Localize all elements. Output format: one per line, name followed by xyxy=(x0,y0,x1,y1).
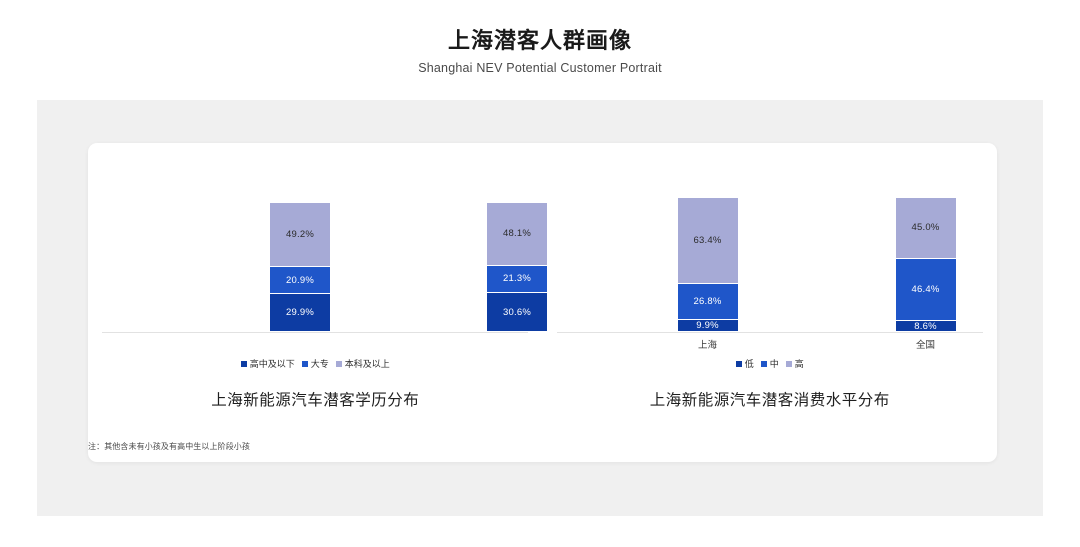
bar-segment-high: 63.4% xyxy=(677,197,739,283)
page-title: 上海潜客人群画像 xyxy=(0,27,1080,55)
legend-swatch-icon xyxy=(336,361,342,367)
legend-left: 高中及以下 大专 本科及以上 xyxy=(88,357,543,370)
legend-item[interactable]: 本科及以上 xyxy=(336,357,390,370)
stacked-bar[interactable]: 63.4% 26.8% 9.9% xyxy=(677,197,739,332)
legend-right: 低 中 高 xyxy=(543,357,998,370)
legend-swatch-icon xyxy=(736,361,742,367)
legend-item[interactable]: 低 xyxy=(736,357,754,370)
x-axis-category-label: 全国 xyxy=(895,337,957,351)
legend-label: 低 xyxy=(745,357,754,370)
charts-row: 49.2% 20.9% 29.9% 48.1% 21.3% 30.6% 高中及以… xyxy=(88,143,997,462)
stacked-bar[interactable]: 49.2% 20.9% 29.9% xyxy=(269,202,331,332)
legend-label: 本科及以上 xyxy=(345,357,390,370)
legend-label: 大专 xyxy=(311,357,329,370)
legend-item[interactable]: 中 xyxy=(761,357,779,370)
chart-consumption-distribution: 63.4% 26.8% 9.9% 45.0% 46.4% 8.6% 上海 全国 xyxy=(543,143,998,462)
chart-education-distribution: 49.2% 20.9% 29.9% 48.1% 21.3% 30.6% 高中及以… xyxy=(88,143,543,462)
x-axis-line-right xyxy=(557,332,983,333)
bar-segment-low: 29.9% xyxy=(269,293,331,332)
bar-segment-mid: 46.4% xyxy=(895,258,957,321)
bar-segment-mid: 26.8% xyxy=(677,283,739,319)
legend-swatch-icon xyxy=(302,361,308,367)
footnote: 注：其他含未有小孩及有高中生以上阶段小孩 xyxy=(88,441,250,452)
slide-page: 上海潜客人群画像 Shanghai NEV Potential Customer… xyxy=(0,0,1080,547)
legend-item[interactable]: 高 xyxy=(786,357,804,370)
chart-caption: 上海新能源汽车潜客消费水平分布 xyxy=(543,388,998,410)
legend-label: 中 xyxy=(770,357,779,370)
x-axis-category-label: 上海 xyxy=(677,337,739,351)
plot-area-left: 49.2% 20.9% 29.9% 48.1% 21.3% 30.6% xyxy=(102,190,528,332)
stacked-bar[interactable]: 45.0% 46.4% 8.6% xyxy=(895,197,957,332)
legend-label: 高中及以下 xyxy=(250,357,295,370)
legend-swatch-icon xyxy=(241,361,247,367)
slide-header: 上海潜客人群画像 Shanghai NEV Potential Customer… xyxy=(0,0,1080,75)
bar-segment-high: 49.2% xyxy=(269,202,331,266)
bar-segment-mid: 20.9% xyxy=(269,266,331,293)
bar-segment-low: 8.6% xyxy=(895,320,957,332)
legend-swatch-icon xyxy=(786,361,792,367)
legend-label: 高 xyxy=(795,357,804,370)
bar-segment-low: 30.6% xyxy=(486,292,548,332)
chart-card: 49.2% 20.9% 29.9% 48.1% 21.3% 30.6% 高中及以… xyxy=(88,143,997,462)
legend-item[interactable]: 高中及以下 xyxy=(241,357,295,370)
legend-item[interactable]: 大专 xyxy=(302,357,329,370)
bar-segment-high: 48.1% xyxy=(486,202,548,265)
stacked-bar[interactable]: 48.1% 21.3% 30.6% xyxy=(486,202,548,332)
page-subtitle: Shanghai NEV Potential Customer Portrait xyxy=(0,61,1080,75)
chart-caption: 上海新能源汽车潜客学历分布 xyxy=(88,388,543,410)
bar-segment-low: 9.9% xyxy=(677,319,739,332)
legend-swatch-icon xyxy=(761,361,767,367)
x-axis-line-left xyxy=(102,332,528,333)
plot-area-right: 63.4% 26.8% 9.9% 45.0% 46.4% 8.6% xyxy=(557,190,983,332)
bar-segment-mid: 21.3% xyxy=(486,265,548,293)
bar-segment-high: 45.0% xyxy=(895,197,957,258)
